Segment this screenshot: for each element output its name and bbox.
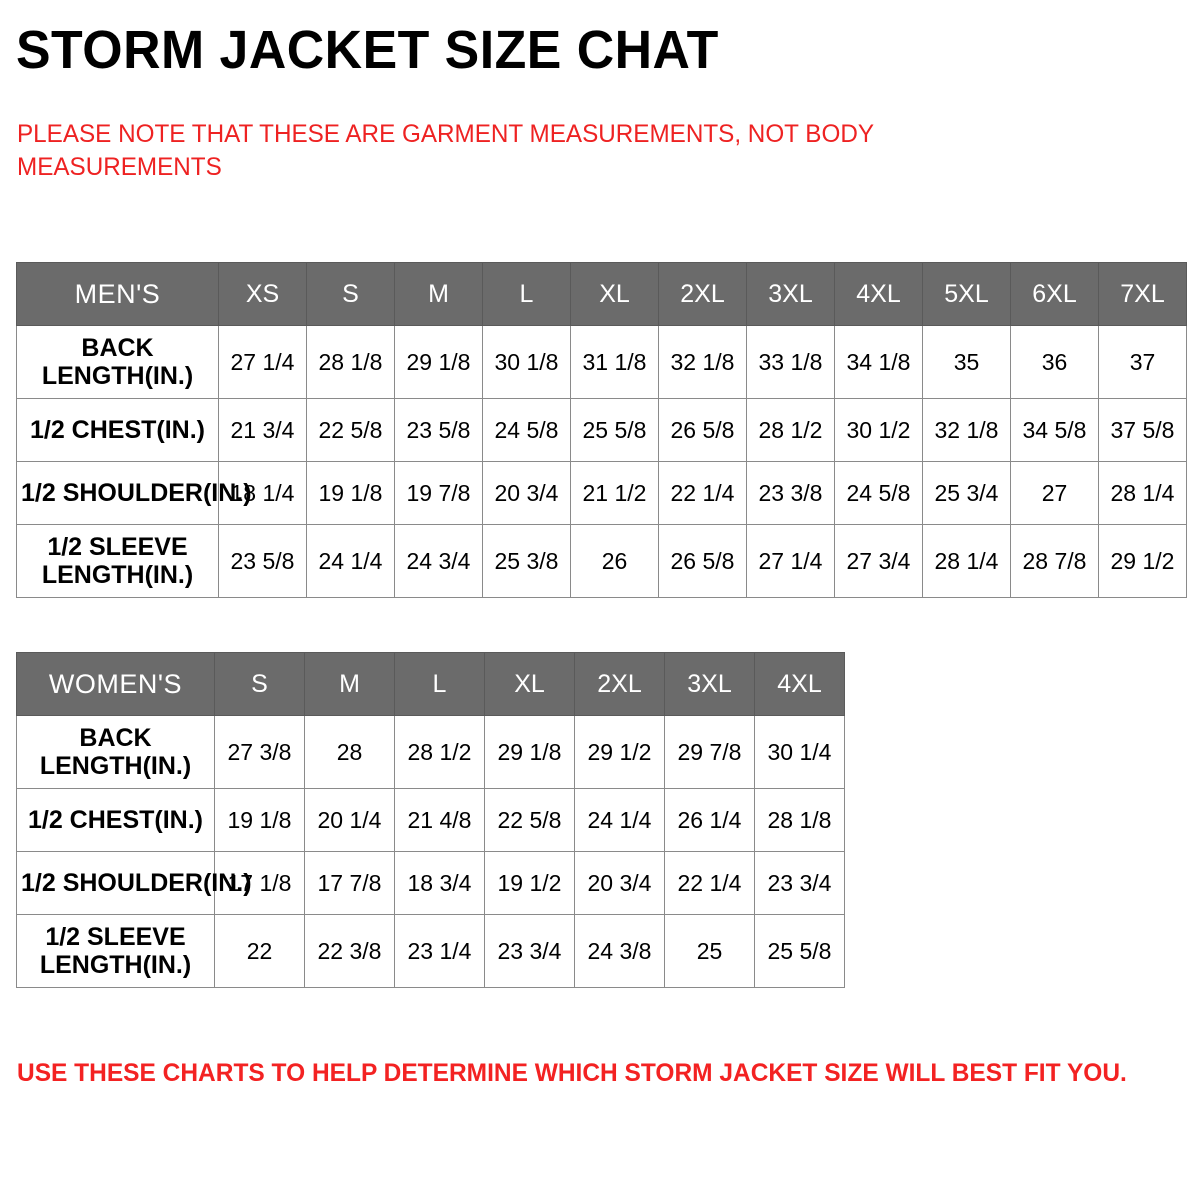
womens-size-header-xl: XL <box>485 653 575 716</box>
mens-corner-header: MEN'S <box>17 263 219 326</box>
measurement-cell: 25 5/8 <box>755 915 845 988</box>
mens-table-head: MEN'SXSSMLXL2XL3XL4XL5XL6XL7XL <box>17 263 1187 326</box>
mens-header-row: MEN'SXSSMLXL2XL3XL4XL5XL6XL7XL <box>17 263 1187 326</box>
mens-size-header-m: M <box>395 263 483 326</box>
measurement-cell: 24 3/4 <box>395 525 483 598</box>
mens-size-header-2xl: 2XL <box>659 263 747 326</box>
measurement-cell: 19 7/8 <box>395 462 483 525</box>
table-row: BACKLENGTH(IN.)27 3/82828 1/229 1/829 1/… <box>17 716 845 789</box>
measurement-cell: 25 5/8 <box>571 399 659 462</box>
measurement-cell: 20 1/4 <box>305 789 395 852</box>
measurement-cell: 28 1/8 <box>755 789 845 852</box>
measurement-cell: 30 1/8 <box>483 326 571 399</box>
table-row: 1/2 SHOULDER(IN.)17 1/817 7/818 3/419 1/… <box>17 852 845 915</box>
table-row: 1/2 SHOULDER(IN.)18 1/419 1/819 7/820 3/… <box>17 462 1187 525</box>
measurement-cell: 29 1/2 <box>575 716 665 789</box>
measurement-cell: 23 5/8 <box>219 525 307 598</box>
measurement-cell: 19 1/2 <box>485 852 575 915</box>
measurement-cell: 28 1/8 <box>307 326 395 399</box>
womens-measurement-label: 1/2 CHEST(IN.) <box>17 789 215 852</box>
measurement-cell: 26 5/8 <box>659 525 747 598</box>
measurement-cell: 25 3/4 <box>923 462 1011 525</box>
measurement-cell: 24 5/8 <box>483 399 571 462</box>
mens-measurement-label: 1/2 SHOULDER(IN.) <box>17 462 219 525</box>
womens-table-head: WOMEN'SSMLXL2XL3XL4XL <box>17 653 845 716</box>
womens-measurement-label: BACKLENGTH(IN.) <box>17 716 215 789</box>
table-row: 1/2 SLEEVELENGTH(IN.)2222 3/823 1/423 3/… <box>17 915 845 988</box>
mens-size-header-6xl: 6XL <box>1011 263 1099 326</box>
measurement-cell: 26 1/4 <box>665 789 755 852</box>
measurement-cell: 19 1/8 <box>307 462 395 525</box>
womens-measurement-label: 1/2 SLEEVELENGTH(IN.) <box>17 915 215 988</box>
womens-size-header-s: S <box>215 653 305 716</box>
measurement-cell: 28 7/8 <box>1011 525 1099 598</box>
measurement-cell: 37 5/8 <box>1099 399 1187 462</box>
measurement-cell: 25 <box>665 915 755 988</box>
measurement-cell: 32 1/8 <box>659 326 747 399</box>
table-row: 1/2 CHEST(IN.)19 1/820 1/421 4/822 5/824… <box>17 789 845 852</box>
table-row: 1/2 CHEST(IN.)21 3/422 5/823 5/824 5/825… <box>17 399 1187 462</box>
measurement-cell: 30 1/4 <box>755 716 845 789</box>
measurement-cell: 23 3/4 <box>485 915 575 988</box>
mens-measurement-label: 1/2 CHEST(IN.) <box>17 399 219 462</box>
womens-size-header-2xl: 2XL <box>575 653 665 716</box>
measurement-cell: 26 5/8 <box>659 399 747 462</box>
measurement-cell: 27 1/4 <box>747 525 835 598</box>
mens-measurement-label: 1/2 SLEEVELENGTH(IN.) <box>17 525 219 598</box>
mens-size-header-3xl: 3XL <box>747 263 835 326</box>
measurement-cell: 34 5/8 <box>1011 399 1099 462</box>
garment-measurement-note: PLEASE NOTE THAT THESE ARE GARMENT MEASU… <box>17 118 948 184</box>
womens-header-row: WOMEN'SSMLXL2XL3XL4XL <box>17 653 845 716</box>
measurement-cell: 29 1/8 <box>485 716 575 789</box>
mens-size-header-s: S <box>307 263 395 326</box>
measurement-cell: 24 1/4 <box>575 789 665 852</box>
measurement-cell: 29 1/8 <box>395 326 483 399</box>
measurement-cell: 34 1/8 <box>835 326 923 399</box>
womens-corner-header: WOMEN'S <box>17 653 215 716</box>
measurement-cell: 28 1/4 <box>1099 462 1187 525</box>
womens-size-header-3xl: 3XL <box>665 653 755 716</box>
measurement-cell: 24 3/8 <box>575 915 665 988</box>
size-chart-page: STORM JACKET SIZE CHAT PLEASE NOTE THAT … <box>0 0 1200 1200</box>
measurement-cell: 29 7/8 <box>665 716 755 789</box>
measurement-cell: 27 3/8 <box>215 716 305 789</box>
measurement-cell: 23 3/4 <box>755 852 845 915</box>
measurement-cell: 25 3/8 <box>483 525 571 598</box>
mens-size-header-xs: XS <box>219 263 307 326</box>
measurement-cell: 21 3/4 <box>219 399 307 462</box>
mens-table-body: BACKLENGTH(IN.)27 1/428 1/829 1/830 1/83… <box>17 326 1187 598</box>
mens-size-header-l: L <box>483 263 571 326</box>
measurement-cell: 24 5/8 <box>835 462 923 525</box>
mens-size-header-5xl: 5XL <box>923 263 1011 326</box>
measurement-cell: 23 1/4 <box>395 915 485 988</box>
measurement-cell: 21 1/2 <box>571 462 659 525</box>
mens-size-header-xl: XL <box>571 263 659 326</box>
measurement-cell: 29 1/2 <box>1099 525 1187 598</box>
measurement-cell: 18 1/4 <box>219 462 307 525</box>
measurement-cell: 28 1/2 <box>747 399 835 462</box>
measurement-cell: 28 1/4 <box>923 525 1011 598</box>
measurement-cell: 35 <box>923 326 1011 399</box>
table-row: BACKLENGTH(IN.)27 1/428 1/829 1/830 1/83… <box>17 326 1187 399</box>
mens-size-header-7xl: 7XL <box>1099 263 1187 326</box>
measurement-cell: 22 3/8 <box>305 915 395 988</box>
measurement-cell: 23 5/8 <box>395 399 483 462</box>
womens-size-header-m: M <box>305 653 395 716</box>
womens-table-body: BACKLENGTH(IN.)27 3/82828 1/229 1/829 1/… <box>17 716 845 988</box>
measurement-cell: 19 1/8 <box>215 789 305 852</box>
mens-size-header-4xl: 4XL <box>835 263 923 326</box>
measurement-cell: 23 3/8 <box>747 462 835 525</box>
table-row: 1/2 SLEEVELENGTH(IN.)23 5/824 1/424 3/42… <box>17 525 1187 598</box>
measurement-cell: 20 3/4 <box>575 852 665 915</box>
measurement-cell: 28 <box>305 716 395 789</box>
measurement-cell: 28 1/2 <box>395 716 485 789</box>
fit-guidance-note: USE THESE CHARTS TO HELP DETERMINE WHICH… <box>17 1058 1127 1088</box>
womens-size-header-4xl: 4XL <box>755 653 845 716</box>
mens-measurement-label: BACKLENGTH(IN.) <box>17 326 219 399</box>
measurement-cell: 33 1/8 <box>747 326 835 399</box>
measurement-cell: 22 5/8 <box>307 399 395 462</box>
measurement-cell: 32 1/8 <box>923 399 1011 462</box>
measurement-cell: 22 <box>215 915 305 988</box>
measurement-cell: 31 1/8 <box>571 326 659 399</box>
measurement-cell: 27 <box>1011 462 1099 525</box>
measurement-cell: 22 5/8 <box>485 789 575 852</box>
measurement-cell: 30 1/2 <box>835 399 923 462</box>
measurement-cell: 26 <box>571 525 659 598</box>
measurement-cell: 17 1/8 <box>215 852 305 915</box>
measurement-cell: 24 1/4 <box>307 525 395 598</box>
mens-size-table: MEN'SXSSMLXL2XL3XL4XL5XL6XL7XL BACKLENGT… <box>16 262 1187 598</box>
measurement-cell: 27 3/4 <box>835 525 923 598</box>
measurement-cell: 22 1/4 <box>665 852 755 915</box>
measurement-cell: 17 7/8 <box>305 852 395 915</box>
womens-size-table: WOMEN'SSMLXL2XL3XL4XL BACKLENGTH(IN.)27 … <box>16 652 845 988</box>
measurement-cell: 20 3/4 <box>483 462 571 525</box>
womens-size-header-l: L <box>395 653 485 716</box>
measurement-cell: 36 <box>1011 326 1099 399</box>
page-title: STORM JACKET SIZE CHAT <box>16 22 719 79</box>
womens-measurement-label: 1/2 SHOULDER(IN.) <box>17 852 215 915</box>
measurement-cell: 37 <box>1099 326 1187 399</box>
measurement-cell: 27 1/4 <box>219 326 307 399</box>
measurement-cell: 18 3/4 <box>395 852 485 915</box>
measurement-cell: 21 4/8 <box>395 789 485 852</box>
measurement-cell: 22 1/4 <box>659 462 747 525</box>
